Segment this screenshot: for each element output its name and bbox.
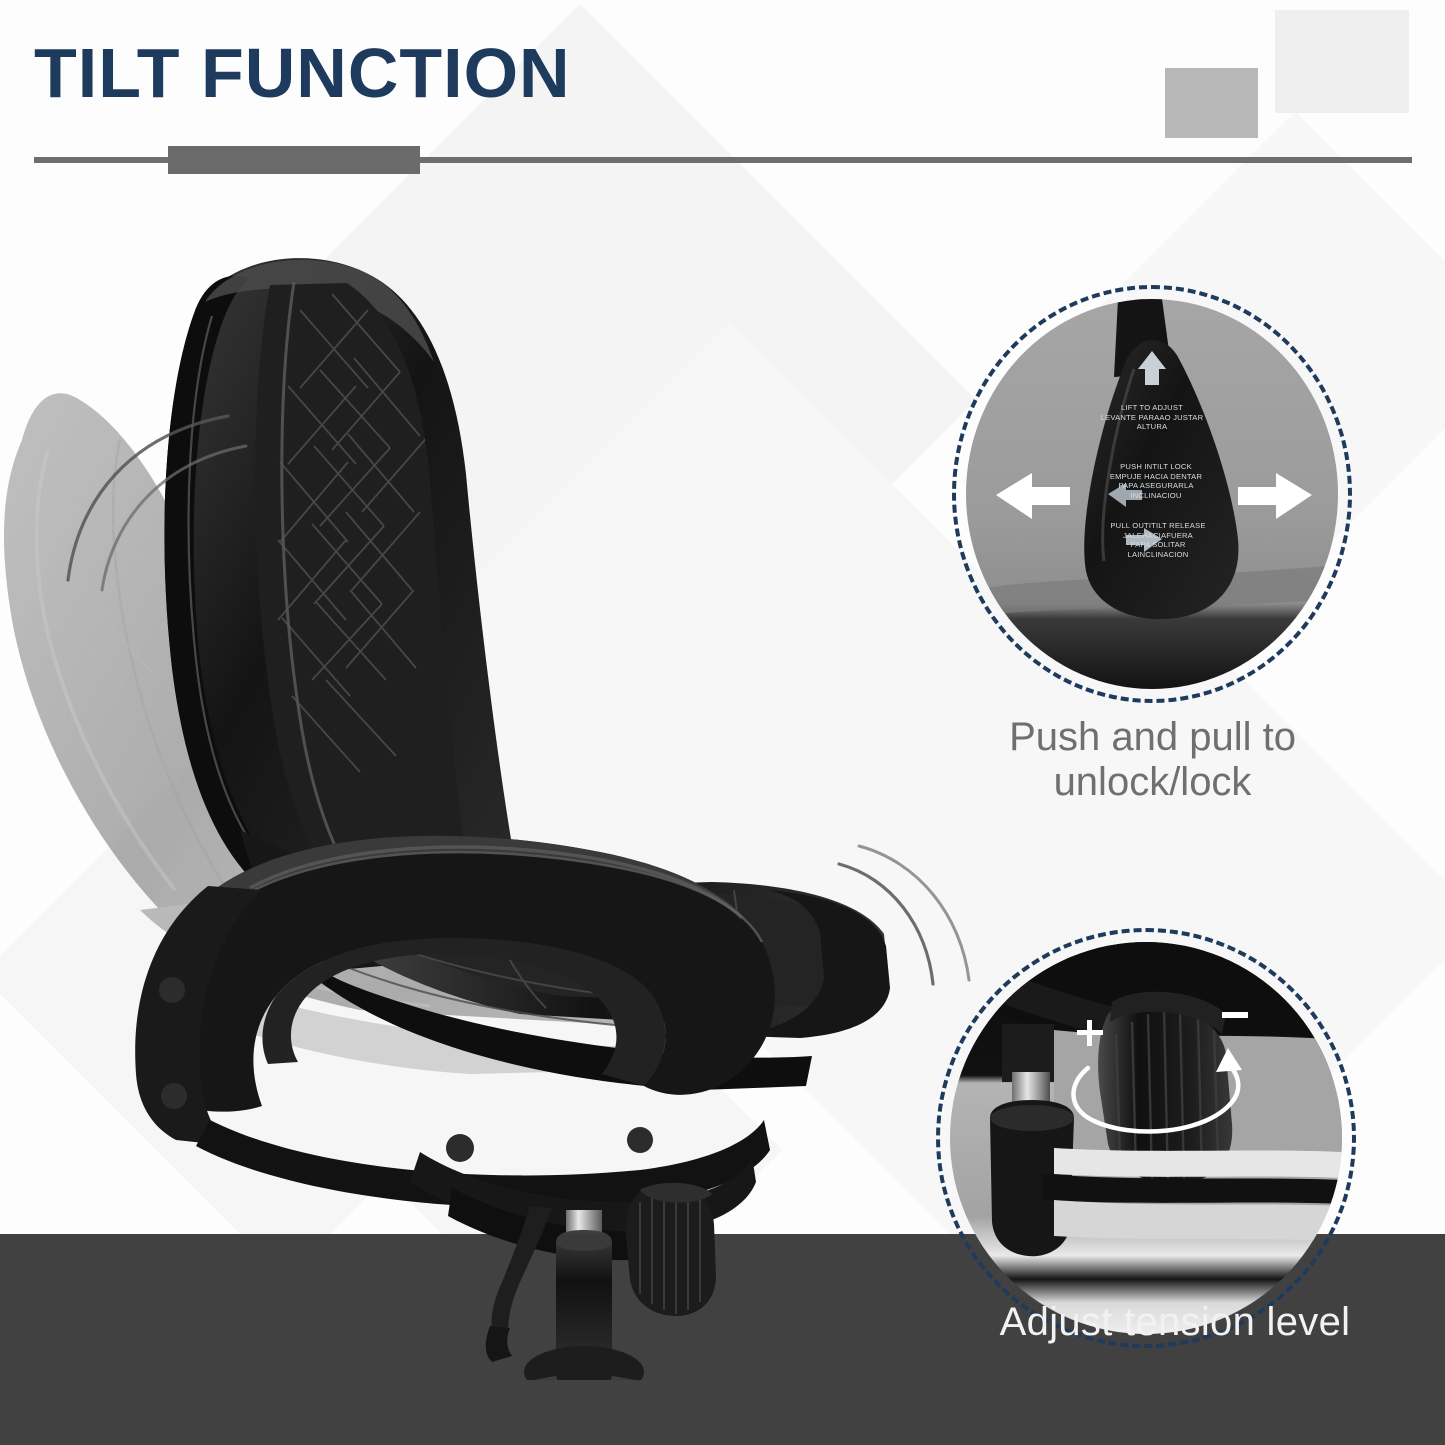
callout-tilt-lever-caption: Push and pull to unlock/lock (945, 715, 1360, 805)
base-leg (604, 1376, 882, 1380)
chair-base (264, 1346, 920, 1380)
tension-knob (626, 1183, 716, 1316)
armrest-rivet (627, 1127, 653, 1153)
page-title: TILT FUNCTION (34, 38, 571, 108)
caption-line-1: Push and pull to (945, 715, 1360, 760)
caption-line-2: unlock/lock (945, 760, 1360, 805)
header-divider-block (168, 146, 420, 174)
armrest-rivet (446, 1134, 474, 1162)
callout-tilt-lever: LIFT TO ADJUST LEVANTE PARAAO JUSTAR ALT… (952, 285, 1352, 703)
callout-tension-knob-caption: Adjust tension level (945, 1300, 1405, 1345)
product-illustration (0, 190, 960, 1380)
callout-tension-knob (936, 928, 1356, 1348)
decorative-square-gray (1165, 68, 1258, 138)
base-leg (292, 1376, 566, 1380)
chair-graphic (0, 190, 960, 1380)
decorative-square-light (1275, 10, 1409, 113)
chair-main-black (135, 258, 920, 1380)
callout-dashed-ring (936, 928, 1356, 1348)
callout-dashed-ring (952, 285, 1352, 703)
armrest-rivet (161, 1083, 187, 1109)
armrest-rivet (159, 977, 185, 1003)
header: TILT FUNCTION (0, 0, 1445, 190)
infographic-page: TILT FUNCTION (0, 0, 1445, 1445)
